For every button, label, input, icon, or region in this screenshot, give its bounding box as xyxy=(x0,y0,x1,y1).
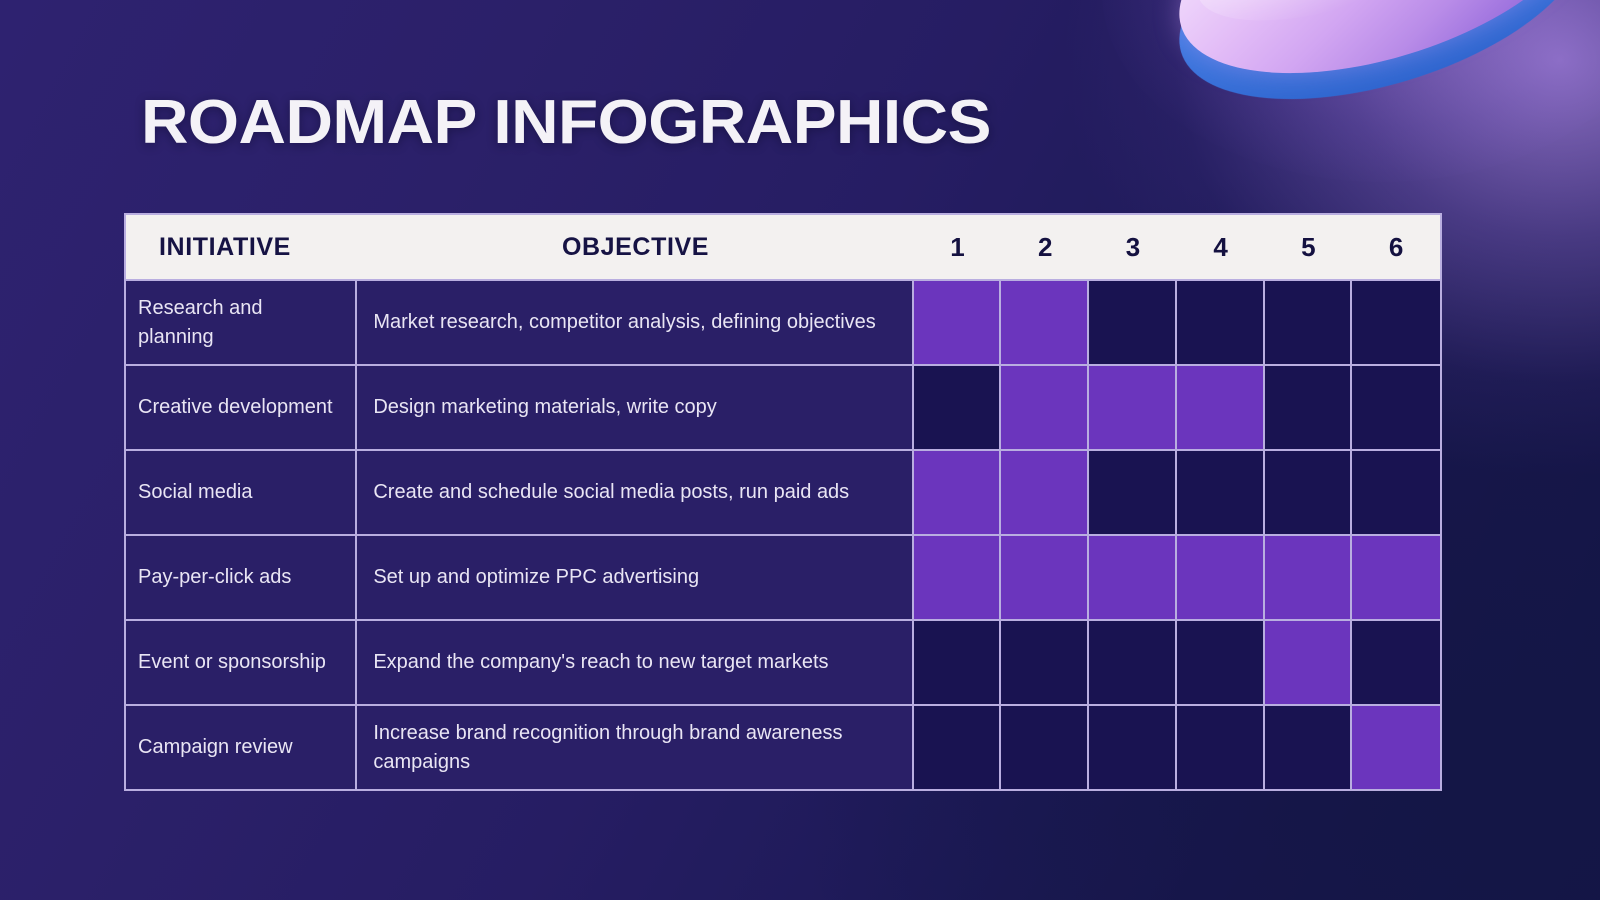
timeline-cell-month-6-empty[interactable] xyxy=(1352,366,1440,449)
column-header-initiative: INITIATIVE xyxy=(126,233,357,262)
timeline-cell-month-4-empty[interactable] xyxy=(1177,281,1265,364)
table-row: Social mediaCreate and schedule social m… xyxy=(126,449,1440,534)
column-header-month-2: 2 xyxy=(1001,232,1089,263)
page-title: ROADMAP INFOGRAPHICS xyxy=(141,92,991,154)
table-row: Research and planningMarket research, co… xyxy=(126,279,1440,364)
timeline-cell-month-4-filled[interactable] xyxy=(1177,536,1265,619)
timeline-cell-month-5-empty[interactable] xyxy=(1265,706,1353,789)
slide-canvas: ROADMAP INFOGRAPHICS INITIATIVE OBJECTIV… xyxy=(0,0,1600,900)
timeline-cell-month-3-empty[interactable] xyxy=(1089,706,1177,789)
timeline-cell-month-3-filled[interactable] xyxy=(1089,366,1177,449)
column-header-month-3: 3 xyxy=(1089,232,1177,263)
cell-initiative: Pay-per-click ads xyxy=(126,536,357,619)
disc-edge xyxy=(1154,0,1600,141)
timeline-cell-month-2-filled[interactable] xyxy=(1001,536,1089,619)
disc-glow xyxy=(1102,0,1600,182)
timeline-cell-month-2-empty[interactable] xyxy=(1001,706,1089,789)
timeline-cell-month-4-empty[interactable] xyxy=(1177,621,1265,704)
timeline-cell-month-6-empty[interactable] xyxy=(1352,621,1440,704)
timeline-cell-month-1-empty[interactable] xyxy=(914,621,1002,704)
timeline-cell-month-4-filled[interactable] xyxy=(1177,366,1265,449)
timeline-cell-month-1-filled[interactable] xyxy=(914,451,1002,534)
timeline-cell-month-2-filled[interactable] xyxy=(1001,281,1089,364)
timeline-cell-month-3-empty[interactable] xyxy=(1089,451,1177,534)
cell-initiative: Research and planning xyxy=(126,281,357,364)
timeline-cell-month-6-filled[interactable] xyxy=(1352,536,1440,619)
cell-objective: Market research, competitor analysis, de… xyxy=(357,281,913,364)
cell-objective: Create and schedule social media posts, … xyxy=(357,451,913,534)
timeline-cell-month-5-empty[interactable] xyxy=(1265,451,1353,534)
cell-initiative: Social media xyxy=(126,451,357,534)
roadmap-table: INITIATIVE OBJECTIVE 1 2 3 4 5 6 Researc… xyxy=(124,213,1442,791)
column-header-month-5: 5 xyxy=(1265,232,1353,263)
table-row: Creative developmentDesign marketing mat… xyxy=(126,364,1440,449)
column-header-month-1: 1 xyxy=(914,232,1002,263)
table-row: Event or sponsorshipExpand the company's… xyxy=(126,619,1440,704)
column-header-month-4: 4 xyxy=(1177,232,1265,263)
timeline-cell-month-1-empty[interactable] xyxy=(914,706,1002,789)
timeline-cell-month-2-filled[interactable] xyxy=(1001,366,1089,449)
disc-top-face xyxy=(1154,0,1600,115)
timeline-cell-month-4-empty[interactable] xyxy=(1177,451,1265,534)
table-row: Pay-per-click adsSet up and optimize PPC… xyxy=(126,534,1440,619)
table-header-row: INITIATIVE OBJECTIVE 1 2 3 4 5 6 xyxy=(126,215,1440,279)
decorative-3d-disc xyxy=(1172,0,1600,128)
timeline-cell-month-3-empty[interactable] xyxy=(1089,281,1177,364)
timeline-cell-month-2-empty[interactable] xyxy=(1001,621,1089,704)
timeline-cell-month-6-empty[interactable] xyxy=(1352,281,1440,364)
timeline-cell-month-2-filled[interactable] xyxy=(1001,451,1089,534)
cell-initiative: Campaign review xyxy=(126,706,357,789)
cell-objective: Expand the company's reach to new target… xyxy=(357,621,913,704)
cell-initiative: Event or sponsorship xyxy=(126,621,357,704)
timeline-cell-month-5-filled[interactable] xyxy=(1265,621,1353,704)
cell-initiative: Creative development xyxy=(126,366,357,449)
timeline-cell-month-1-empty[interactable] xyxy=(914,366,1002,449)
table-row: Campaign reviewIncrease brand recognitio… xyxy=(126,704,1440,789)
timeline-cell-month-6-empty[interactable] xyxy=(1352,451,1440,534)
timeline-cell-month-1-filled[interactable] xyxy=(914,281,1002,364)
column-header-objective: OBJECTIVE xyxy=(357,233,913,262)
timeline-cell-month-5-empty[interactable] xyxy=(1265,366,1353,449)
timeline-cell-month-4-empty[interactable] xyxy=(1177,706,1265,789)
cell-objective: Increase brand recognition through brand… xyxy=(357,706,913,789)
cell-objective: Set up and optimize PPC advertising xyxy=(357,536,913,619)
table-body: Research and planningMarket research, co… xyxy=(126,279,1440,789)
timeline-cell-month-5-filled[interactable] xyxy=(1265,536,1353,619)
timeline-cell-month-5-empty[interactable] xyxy=(1265,281,1353,364)
timeline-cell-month-6-filled[interactable] xyxy=(1352,706,1440,789)
cell-objective: Design marketing materials, write copy xyxy=(357,366,913,449)
timeline-cell-month-3-filled[interactable] xyxy=(1089,536,1177,619)
timeline-cell-month-1-filled[interactable] xyxy=(914,536,1002,619)
timeline-cell-month-3-empty[interactable] xyxy=(1089,621,1177,704)
column-header-month-6: 6 xyxy=(1352,232,1440,263)
